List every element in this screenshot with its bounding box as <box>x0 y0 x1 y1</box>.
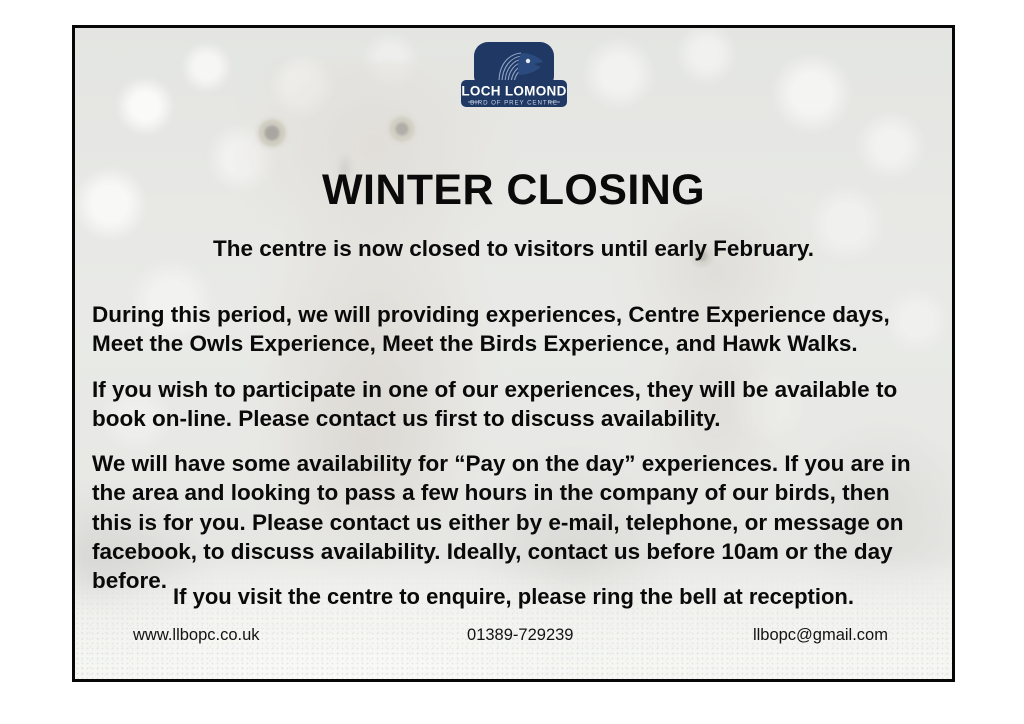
page-title: WINTER CLOSING <box>75 168 952 213</box>
poster-page: LOCH LOMOND BIRD OF PREY CENTRE WINTER C… <box>0 0 1024 724</box>
contact-phone[interactable]: 01389-729239 <box>467 626 573 645</box>
logo-name-text: LOCH LOMOND <box>461 84 566 99</box>
contact-footer: www.llbopc.co.uk 01389-729239 llbopc@gma… <box>133 626 894 645</box>
poster-frame: LOCH LOMOND BIRD OF PREY CENTRE WINTER C… <box>72 25 955 682</box>
paragraph-booking: If you wish to participate in one of our… <box>92 375 935 434</box>
reception-bell-note: If you visit the centre to enquire, plea… <box>75 584 952 610</box>
closure-subtitle: The centre is now closed to visitors unt… <box>75 236 952 262</box>
loch-lomond-logo: LOCH LOMOND BIRD OF PREY CENTRE <box>455 38 573 114</box>
poster-content: LOCH LOMOND BIRD OF PREY CENTRE WINTER C… <box>75 28 952 679</box>
logo-subtitle-text: BIRD OF PREY CENTRE <box>470 100 558 107</box>
paragraph-pay-on-the-day: We will have some availability for “Pay … <box>92 449 935 595</box>
body-paragraphs: During this period, we will providing ex… <box>92 300 935 595</box>
contact-email[interactable]: llbopc@gmail.com <box>753 626 888 645</box>
contact-website[interactable]: www.llbopc.co.uk <box>133 626 260 645</box>
paragraph-experiences: During this period, we will providing ex… <box>92 300 935 359</box>
